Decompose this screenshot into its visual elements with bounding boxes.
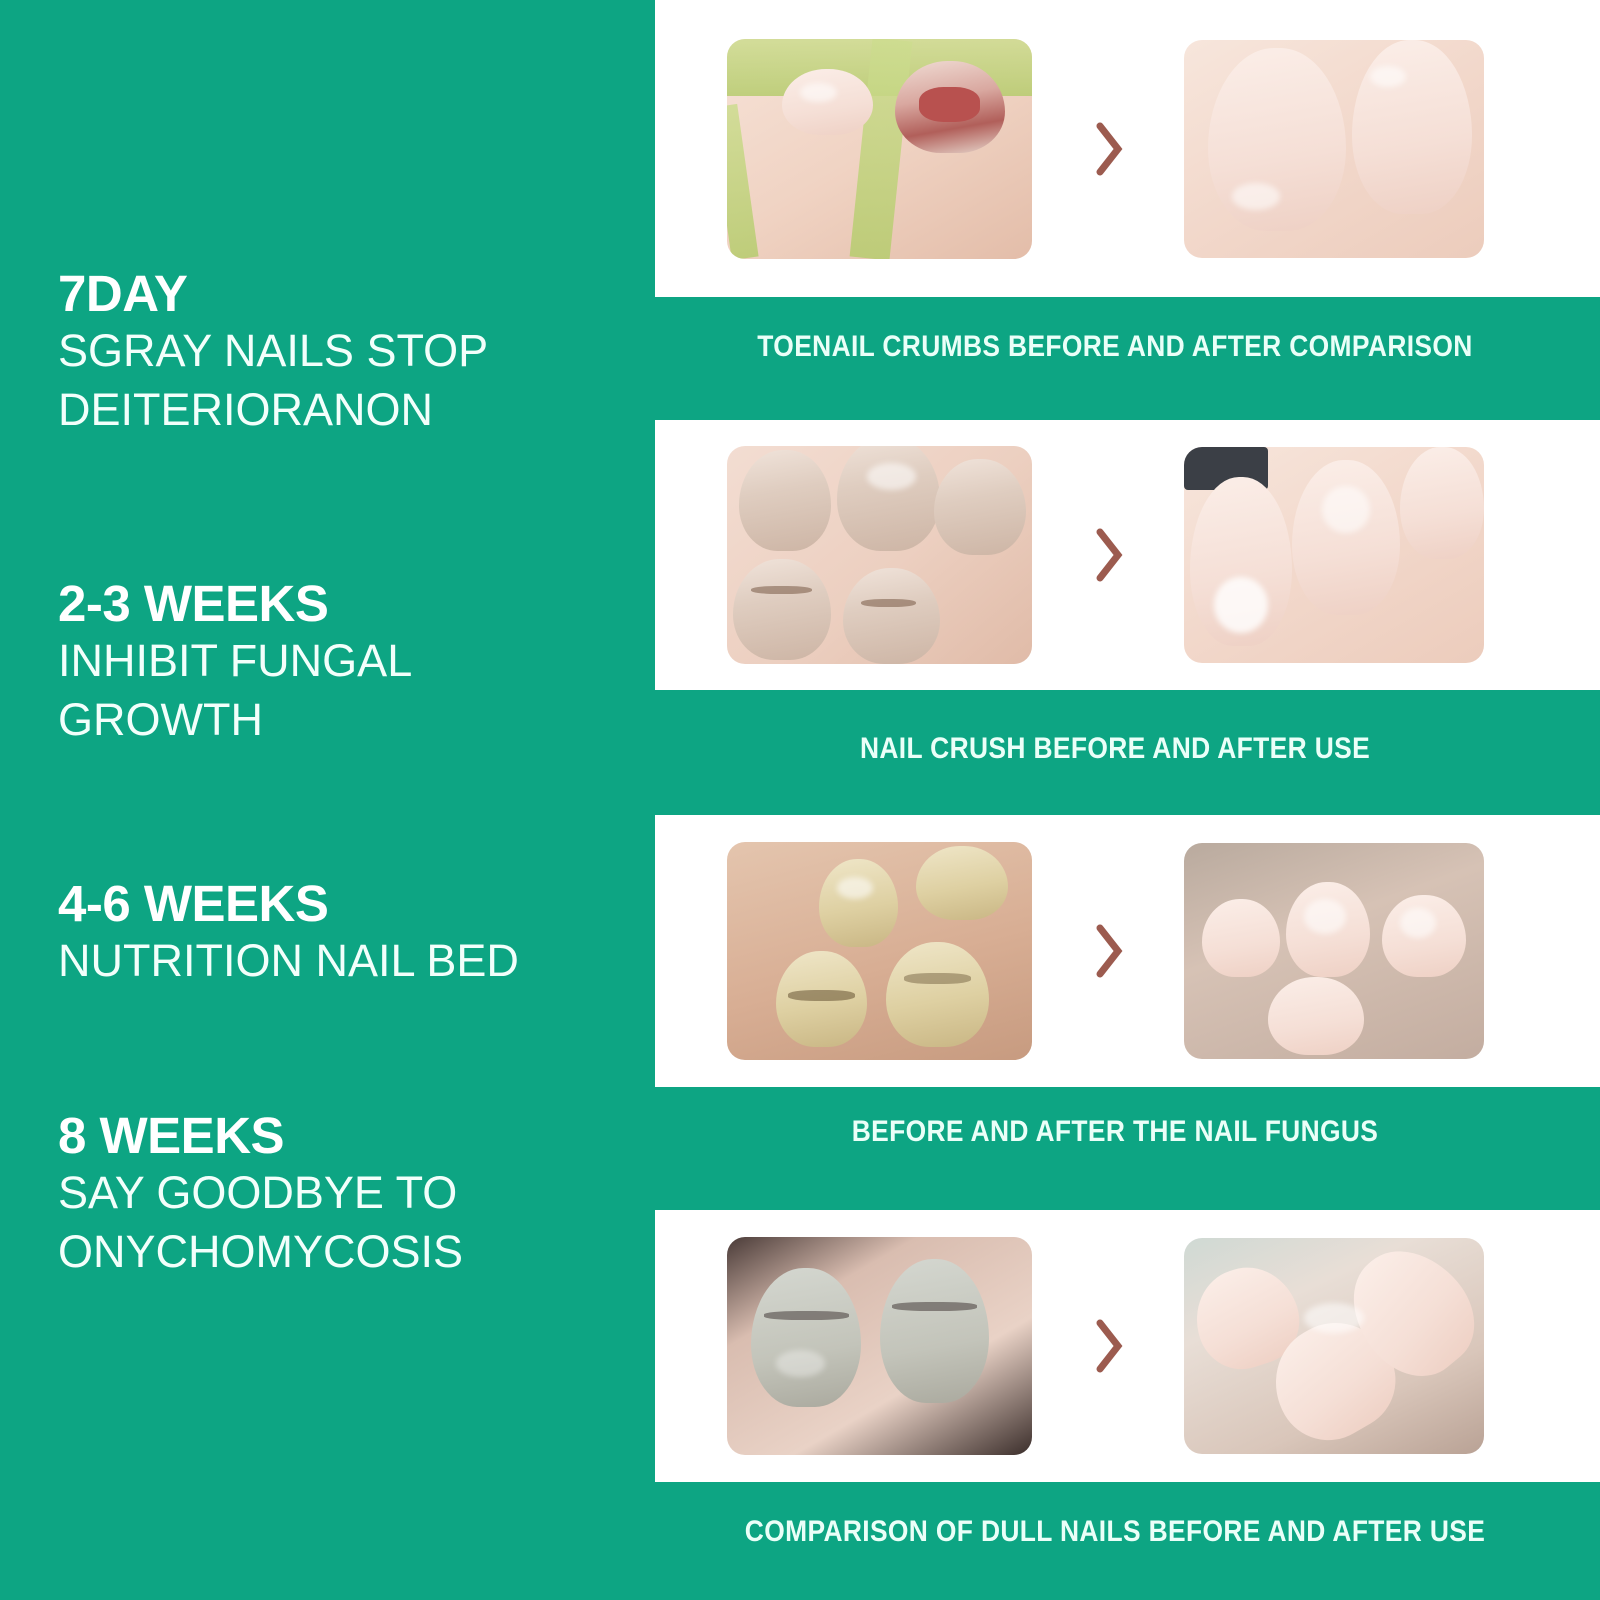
step-duration-4: 8 WEEKS [58,1110,638,1162]
after-photo-1 [1184,40,1484,258]
comparison-block-3: BEFORE AND AFTER THE NAIL FUNGUS [630,815,1600,1195]
photo-card-2 [655,420,1600,690]
infographic-root: 7DAY SGRAY NAILS STOP DEITERIORANON 2-3 … [0,0,1600,1600]
arrow-gap-2 [1032,524,1184,586]
comparison-caption-3: BEFORE AND AFTER THE NAIL FUNGUS [688,1115,1542,1149]
step-description-1: SGRAY NAILS STOP DEITERIORANON [58,322,638,439]
photo-card-4 [655,1210,1600,1482]
step-duration-3: 4-6 WEEKS [58,878,638,930]
chevron-right-icon [1088,524,1128,586]
comparison-caption-1: TOENAIL CRUMBS BEFORE AND AFTER COMPARIS… [688,330,1542,364]
comparison-column: TOENAIL CRUMBS BEFORE AND AFTER COMPARIS… [630,0,1600,1600]
comparison-caption-2: NAIL CRUSH BEFORE AND AFTER USE [688,732,1542,766]
arrow-gap-3 [1032,920,1184,982]
timeline-step-4: 8 WEEKS SAY GOODBYE TO ONYCHOMYCOSIS [58,1110,638,1281]
arrow-gap-1 [1032,118,1184,180]
comparison-block-1: TOENAIL CRUMBS BEFORE AND AFTER COMPARIS… [630,0,1600,378]
step-description-1-line-1: SGRAY NAILS STOP [58,322,638,381]
timeline-step-1: 7DAY SGRAY NAILS STOP DEITERIORANON [58,268,638,439]
photo-card-1 [655,0,1600,297]
step-duration-2: 2-3 WEEKS [58,578,638,630]
step-description-2-line-1: INHIBIT FUNGAL [58,632,638,691]
step-description-4-line-1: SAY GOODBYE TO [58,1164,638,1223]
step-description-3-line-1: NUTRITION NAIL BED [58,932,638,991]
step-description-4-line-2: ONYCHOMYCOSIS [58,1223,638,1282]
photo-card-3 [655,815,1600,1087]
chevron-right-icon [1088,1315,1128,1377]
comparison-block-4: COMPARISON OF DULL NAILS BEFORE AND AFTE… [630,1210,1600,1600]
after-photo-3 [1184,843,1484,1059]
chevron-right-icon [1088,920,1128,982]
before-photo-1 [727,39,1032,259]
step-description-1-line-2: DEITERIORANON [58,381,638,440]
step-description-4: SAY GOODBYE TO ONYCHOMYCOSIS [58,1164,638,1281]
after-photo-2 [1184,447,1484,663]
after-photo-4 [1184,1238,1484,1454]
chevron-right-icon [1088,118,1128,180]
step-description-2-line-2: GROWTH [58,691,638,750]
comparison-block-2: NAIL CRUSH BEFORE AND AFTER USE [630,420,1600,792]
before-photo-3 [727,842,1032,1060]
step-duration-1: 7DAY [58,268,638,320]
comparison-caption-4: COMPARISON OF DULL NAILS BEFORE AND AFTE… [688,1515,1542,1549]
step-description-3: NUTRITION NAIL BED [58,932,638,991]
timeline-step-3: 4-6 WEEKS NUTRITION NAIL BED [58,878,638,991]
before-photo-4 [727,1237,1032,1455]
timeline-column: 7DAY SGRAY NAILS STOP DEITERIORANON 2-3 … [0,0,640,1600]
timeline-step-2: 2-3 WEEKS INHIBIT FUNGAL GROWTH [58,578,638,749]
arrow-gap-4 [1032,1315,1184,1377]
step-description-2: INHIBIT FUNGAL GROWTH [58,632,638,749]
before-photo-2 [727,446,1032,664]
